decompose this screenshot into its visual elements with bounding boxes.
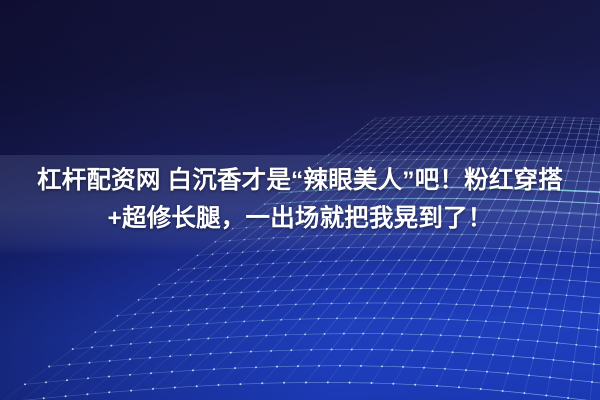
headline: 杠杆配资网 白沉香才是“辣眼美人”吧！粉红穿搭 +超修长腿，一出场就把我晃到了！ [0, 162, 600, 238]
headline-line-2: +超修长腿，一出场就把我晃到了！ [0, 200, 600, 238]
headline-line-1: 杠杆配资网 白沉香才是“辣眼美人”吧！粉红穿搭 [0, 162, 600, 200]
article-thumbnail-banner: 杠杆配资网 白沉香才是“辣眼美人”吧！粉红穿搭 +超修长腿，一出场就把我晃到了！ [0, 0, 600, 400]
